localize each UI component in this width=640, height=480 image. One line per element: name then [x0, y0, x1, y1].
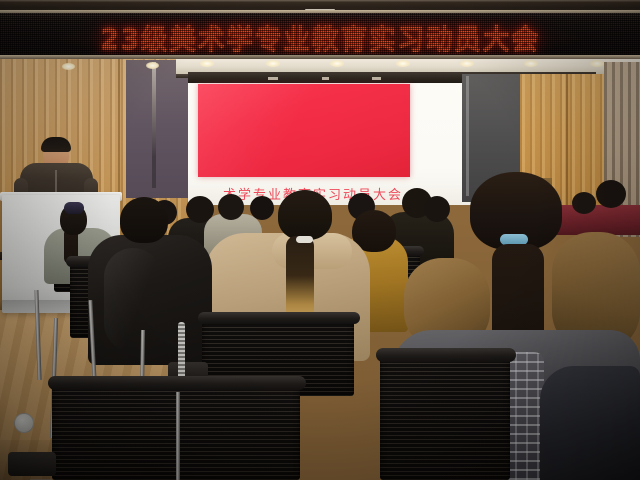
- recess-slit: [152, 62, 156, 188]
- downlight-icon: [460, 60, 474, 67]
- left-recess-panel: [126, 60, 188, 198]
- list-item: [572, 192, 596, 214]
- meeting-photo-scene: 术学专业教育实习动员大会: [0, 0, 640, 480]
- hair-scrunchie: [64, 202, 84, 214]
- downlight-icon: [590, 60, 604, 67]
- list-item: [120, 197, 168, 243]
- chair-top-rail: [198, 312, 360, 324]
- wall-panel-seam: [566, 74, 568, 214]
- panel-highlight: [466, 76, 469, 196]
- ponytail: [286, 236, 314, 324]
- chair-backrest: [380, 354, 510, 480]
- screen-bracket-icon: [322, 77, 329, 80]
- chair-top-rail: [48, 376, 306, 390]
- screen-bracket-icon: [268, 77, 278, 80]
- downlight-icon: [524, 60, 538, 67]
- institution-seal-icon: [14, 413, 34, 433]
- list-item: [218, 194, 244, 220]
- chair-top-rail: [376, 348, 516, 362]
- speaker-hair: [41, 137, 71, 152]
- downlight-icon: [266, 60, 280, 67]
- slide-sheen: [198, 84, 410, 177]
- chair-leg: [176, 392, 180, 480]
- led-banner-rail: [0, 55, 640, 59]
- downlight-icon: [330, 60, 344, 67]
- list-item: [424, 196, 450, 222]
- hair-tie: [296, 236, 313, 243]
- downlight-icon: [200, 60, 214, 67]
- jacket-sheen: [104, 248, 162, 352]
- list-item: [596, 180, 626, 208]
- screen-bracket-icon: [372, 77, 381, 80]
- led-banner-text: 23级美术学专业教育实习动员大会: [0, 13, 640, 59]
- downlight-icon: [396, 60, 410, 67]
- ceiling-band: [0, 0, 640, 13]
- list-item: [278, 190, 332, 240]
- downlight-icon: [146, 62, 159, 69]
- chair-tablet-arm: [8, 452, 56, 476]
- downlight-icon: [62, 63, 75, 70]
- led-banner: 23级美术学专业教育实习动员大会: [0, 13, 640, 59]
- list-item: [250, 196, 274, 220]
- list-item: [540, 366, 640, 480]
